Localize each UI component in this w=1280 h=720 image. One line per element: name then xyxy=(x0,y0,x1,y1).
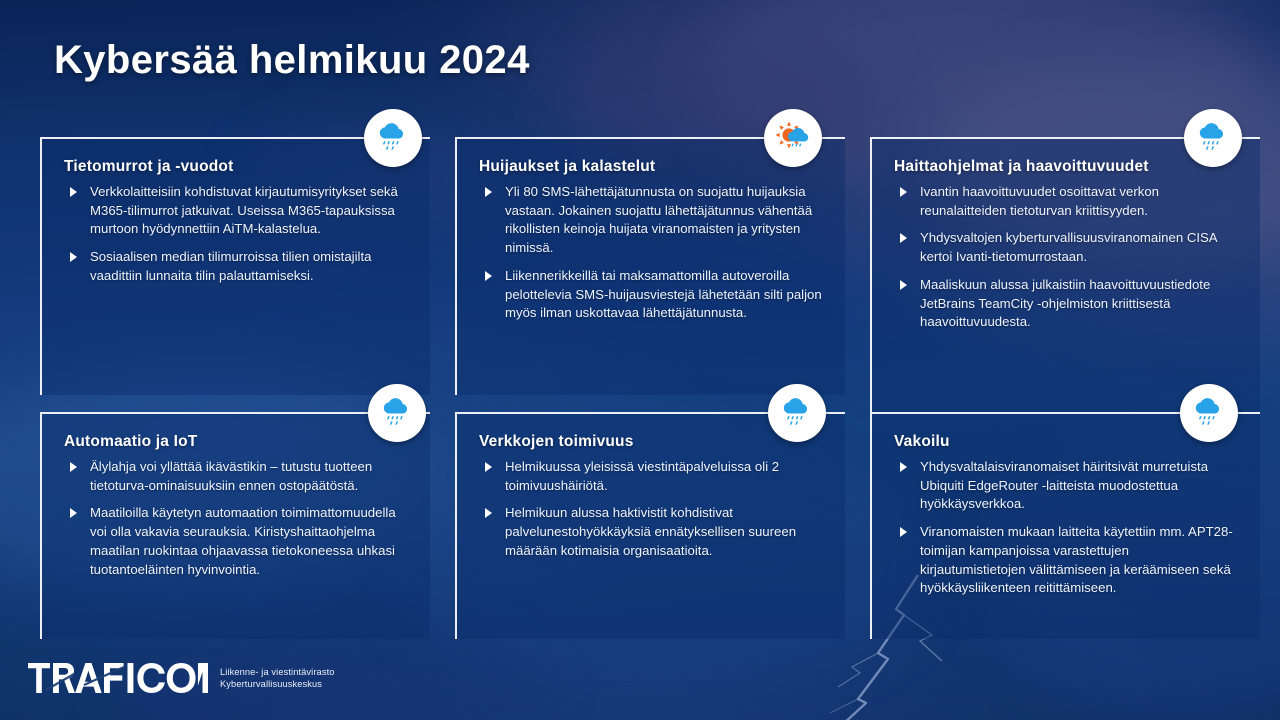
bullet-text: Yhdysvaltalaisviranomaiset häiritsivät m… xyxy=(920,459,1208,511)
sun-rain-cloud-icon xyxy=(764,109,822,167)
bullet-triangle-icon xyxy=(900,187,907,197)
page-title: Kybersää helmikuu 2024 xyxy=(54,38,530,83)
card-title: Tietomurrot ja -vuodot xyxy=(64,157,408,177)
bullet-triangle-icon xyxy=(900,527,907,537)
card-bullet-list: Ivantin haavoittuvuudet osoittavat verko… xyxy=(894,183,1238,332)
topic-card-vakoilu: Vakoilu Yhdysvaltalaisviranomaiset häiri… xyxy=(870,412,1260,639)
rain-cloud-icon xyxy=(368,384,426,442)
bullet-triangle-icon xyxy=(70,252,77,262)
rain-cloud-icon xyxy=(1180,384,1238,442)
list-item: Verkkolaitteisiin kohdistuvat kirjautumi… xyxy=(64,183,408,239)
card-bullet-list: Älylahja voi yllättää ikävästikin – tutu… xyxy=(64,458,408,579)
topic-card-verkkojen-toimivuus: Verkkojen toimivuus Helmikuussa yleisiss… xyxy=(455,412,845,639)
bullet-text: Maatiloilla käytetyn automaation toimima… xyxy=(90,505,396,576)
logo-subtitle-line2: Kyberturvallisuuskeskus xyxy=(220,678,335,690)
traficom-logo: Liikenne- ja viestintävirasto Kyberturva… xyxy=(28,663,335,693)
list-item: Ivantin haavoittuvuudet osoittavat verko… xyxy=(894,183,1238,220)
card-title: Huijaukset ja kalastelut xyxy=(479,157,823,177)
bullet-text: Älylahja voi yllättää ikävästikin – tutu… xyxy=(90,459,372,493)
bullet-text: Yli 80 SMS-lähettäjätunnusta on suojattu… xyxy=(505,184,812,255)
bullet-triangle-icon xyxy=(900,462,907,472)
topic-card-automaatio: Automaatio ja IoT Älylahja voi yllättää … xyxy=(40,412,430,639)
card-bullet-list: Verkkolaitteisiin kohdistuvat kirjautumi… xyxy=(64,183,408,286)
bullet-triangle-icon xyxy=(485,271,492,281)
logo-subtitle: Liikenne- ja viestintävirasto Kyberturva… xyxy=(220,666,335,691)
list-item: Yhdysvaltojen kyberturvallisuusviranomai… xyxy=(894,229,1238,266)
bullet-text: Ivantin haavoittuvuudet osoittavat verko… xyxy=(920,184,1159,218)
bullet-triangle-icon xyxy=(70,508,77,518)
bullet-triangle-icon xyxy=(70,462,77,472)
card-bullet-list: Yhdysvaltalaisviranomaiset häiritsivät m… xyxy=(894,458,1238,598)
card-bullet-list: Yli 80 SMS-lähettäjätunnusta on suojattu… xyxy=(479,183,823,323)
logo-subtitle-line1: Liikenne- ja viestintävirasto xyxy=(220,666,335,678)
bullet-triangle-icon xyxy=(900,233,907,243)
list-item: Sosiaalisen median tilimurroissa tilien … xyxy=(64,248,408,285)
rain-cloud-icon xyxy=(768,384,826,442)
traficom-wordmark-icon xyxy=(28,663,208,693)
topic-card-haittaohjelmat: Haittaohjelmat ja haavoittuvuudet Ivanti… xyxy=(870,137,1260,412)
topic-card-huijaukset: Huijaukset ja kalastelut Yli 80 SMS-lähe… xyxy=(455,137,845,395)
list-item: Helmikuussa yleisissä viestintäpalveluis… xyxy=(479,458,823,495)
bullet-text: Yhdysvaltojen kyberturvallisuusviranomai… xyxy=(920,230,1217,264)
rain-cloud-icon xyxy=(1184,109,1242,167)
bullet-text: Sosiaalisen median tilimurroissa tilien … xyxy=(90,249,371,283)
bullet-text: Helmikuussa yleisissä viestintäpalveluis… xyxy=(505,459,779,493)
list-item: Yhdysvaltalaisviranomaiset häiritsivät m… xyxy=(894,458,1238,514)
bullet-triangle-icon xyxy=(70,187,77,197)
list-item: Viranomaisten mukaan laitteita käytettii… xyxy=(894,523,1238,598)
card-title: Automaatio ja IoT xyxy=(64,432,408,452)
list-item: Yli 80 SMS-lähettäjätunnusta on suojattu… xyxy=(479,183,823,258)
bullet-text: Helmikuun alussa haktivistit kohdistivat… xyxy=(505,505,796,557)
bullet-triangle-icon xyxy=(485,462,492,472)
bullet-triangle-icon xyxy=(485,187,492,197)
topic-card-tietomurrot: Tietomurrot ja -vuodot Verkkolaitteisiin… xyxy=(40,137,430,395)
card-title: Verkkojen toimivuus xyxy=(479,432,823,452)
bullet-text: Verkkolaitteisiin kohdistuvat kirjautumi… xyxy=(90,184,398,236)
rain-cloud-icon xyxy=(364,109,422,167)
card-bullet-list: Helmikuussa yleisissä viestintäpalveluis… xyxy=(479,458,823,561)
bullet-text: Liikennerikkeillä tai maksamattomilla au… xyxy=(505,268,822,320)
bullet-text: Viranomaisten mukaan laitteita käytettii… xyxy=(920,524,1233,595)
list-item: Maatiloilla käytetyn automaation toimima… xyxy=(64,504,408,579)
list-item: Älylahja voi yllättää ikävästikin – tutu… xyxy=(64,458,408,495)
card-title: Vakoilu xyxy=(894,432,1238,452)
list-item: Helmikuun alussa haktivistit kohdistivat… xyxy=(479,504,823,560)
bullet-triangle-icon xyxy=(485,508,492,518)
bullet-triangle-icon xyxy=(900,280,907,290)
bullet-text: Maaliskuun alussa julkaistiin haavoittuv… xyxy=(920,277,1210,329)
list-item: Liikennerikkeillä tai maksamattomilla au… xyxy=(479,267,823,323)
card-title: Haittaohjelmat ja haavoittuvuudet xyxy=(894,157,1238,177)
list-item: Maaliskuun alussa julkaistiin haavoittuv… xyxy=(894,276,1238,332)
